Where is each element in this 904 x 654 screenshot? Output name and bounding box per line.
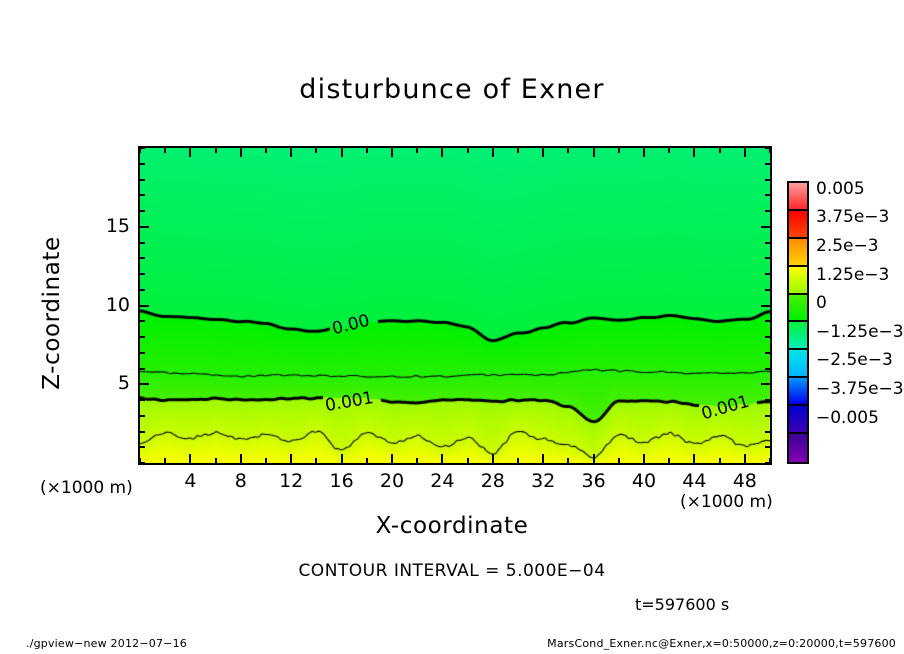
x-axis-title: X-coordinate	[0, 513, 904, 539]
axis-tick	[467, 148, 469, 153]
colorbar-band	[789, 378, 807, 406]
axis-tick	[290, 454, 292, 463]
axis-tick	[140, 163, 145, 165]
axis-tick	[140, 273, 145, 275]
axis-tick	[441, 148, 443, 157]
footer-command-note: ./gpview−new 2012−07−16	[26, 637, 187, 650]
axis-tick	[140, 179, 145, 181]
axis-tick	[492, 148, 494, 157]
axis-tick	[643, 148, 645, 157]
axis-tick	[668, 148, 670, 153]
colorbar-band	[789, 295, 807, 323]
axis-tick	[265, 458, 267, 463]
axis-tick	[618, 148, 620, 153]
axis-tick	[164, 458, 166, 463]
axis-tick	[140, 257, 145, 259]
colorbar-band	[789, 434, 807, 462]
axis-tick	[366, 148, 368, 153]
axis-tick	[765, 210, 770, 212]
axis-tick	[140, 147, 145, 149]
axis-tick	[265, 148, 267, 153]
axis-tick	[693, 454, 695, 463]
axis-tick	[517, 148, 519, 153]
x-tick-label: 24	[422, 470, 462, 492]
axis-tick	[765, 242, 770, 244]
axis-tick	[492, 454, 494, 463]
axis-tick	[140, 226, 149, 228]
x-tick-label: 48	[725, 470, 765, 492]
y-tick-label: 10	[92, 294, 130, 316]
axis-tick	[416, 458, 418, 463]
x-tick-label: 44	[674, 470, 714, 492]
axis-tick	[765, 431, 770, 433]
axis-tick	[765, 163, 770, 165]
x-tick-label: 4	[170, 470, 210, 492]
x-unit-right-label: (×1000 m)	[680, 492, 773, 512]
axis-tick	[744, 148, 746, 157]
axis-tick	[765, 147, 770, 149]
axis-tick	[140, 368, 145, 370]
axis-tick	[189, 454, 191, 463]
axis-tick	[240, 148, 242, 157]
x-tick-label: 28	[473, 470, 513, 492]
axis-tick	[567, 458, 569, 463]
axis-tick	[719, 458, 721, 463]
colorbar-band	[789, 211, 807, 239]
axis-tick	[315, 458, 317, 463]
colorbar-band	[789, 267, 807, 295]
axis-tick	[668, 458, 670, 463]
x-tick-label: 12	[271, 470, 311, 492]
colorbar-band	[789, 406, 807, 434]
axis-tick	[416, 148, 418, 153]
axis-tick	[765, 336, 770, 338]
colorbar-tick-label: −0.005	[816, 408, 879, 428]
axis-tick	[140, 336, 145, 338]
axis-tick	[391, 454, 393, 463]
page-title: disturbunce of Exner	[0, 74, 904, 105]
axis-tick	[140, 399, 145, 401]
colorbar-tick-label: 3.75e−3	[816, 207, 889, 227]
axis-tick	[542, 454, 544, 463]
colorbar-band	[789, 183, 807, 211]
axis-tick	[542, 148, 544, 157]
footer-source-note: MarsCond_Exner.nc@Exner,x=0:50000,z=0:20…	[547, 637, 896, 650]
colorbar-tick-label: 2.5e−3	[816, 236, 879, 256]
axis-tick	[215, 148, 217, 153]
time-stamp-note: t=597600 s	[635, 595, 729, 614]
axis-tick	[315, 148, 317, 153]
axis-tick	[765, 289, 770, 291]
axis-tick	[517, 458, 519, 463]
x-tick-label: 16	[322, 470, 362, 492]
x-unit-left-label: (×1000 m)	[40, 478, 133, 498]
axis-tick	[618, 458, 620, 463]
axis-tick	[761, 226, 770, 228]
x-tick-label: 20	[372, 470, 412, 492]
colorbar-band	[789, 350, 807, 378]
colorbar-tick-label: −1.25e−3	[816, 322, 904, 342]
axis-tick	[765, 399, 770, 401]
y-tick-label: 15	[92, 215, 130, 237]
axis-tick	[140, 431, 145, 433]
axis-tick	[761, 383, 770, 385]
axis-tick	[140, 210, 145, 212]
axis-tick	[765, 415, 770, 417]
axis-tick	[341, 148, 343, 157]
axis-tick	[567, 148, 569, 153]
axis-tick	[366, 458, 368, 463]
axis-tick	[761, 305, 770, 307]
axis-tick	[391, 148, 393, 157]
colorbar-band	[789, 322, 807, 350]
axis-tick	[719, 148, 721, 153]
axis-tick	[290, 148, 292, 157]
axis-tick	[140, 415, 145, 417]
axis-tick	[765, 273, 770, 275]
y-tick-label: 5	[92, 372, 130, 394]
axis-tick	[140, 383, 149, 385]
axis-tick	[765, 194, 770, 196]
axis-tick	[140, 320, 145, 322]
axis-tick	[140, 352, 145, 354]
plot-area[interactable]	[138, 146, 772, 465]
axis-tick	[215, 458, 217, 463]
axis-tick	[467, 458, 469, 463]
axis-tick	[765, 257, 770, 259]
x-tick-label: 40	[624, 470, 664, 492]
axis-tick	[593, 148, 595, 157]
colorbar-tick-label: 0	[816, 293, 827, 313]
axis-tick	[189, 148, 191, 157]
axis-tick	[593, 454, 595, 463]
axis-tick	[140, 242, 145, 244]
colorbar-tick-label: −3.75e−3	[816, 379, 904, 399]
axis-tick	[140, 462, 145, 464]
y-axis-title: Z-coordinate	[39, 213, 65, 413]
x-tick-label: 36	[574, 470, 614, 492]
axis-tick	[441, 454, 443, 463]
axis-tick	[765, 446, 770, 448]
axis-tick	[693, 148, 695, 157]
colorbar-tick-label: −2.5e−3	[816, 350, 893, 370]
axis-tick	[341, 454, 343, 463]
colorbar-tick-label: 0.005	[816, 179, 865, 199]
contour-field	[140, 148, 770, 463]
axis-tick	[643, 454, 645, 463]
axis-tick	[765, 462, 770, 464]
colorbar-band	[789, 239, 807, 267]
axis-tick	[765, 352, 770, 354]
axis-tick	[765, 320, 770, 322]
axis-tick	[765, 179, 770, 181]
axis-tick	[140, 194, 145, 196]
axis-tick	[744, 454, 746, 463]
axis-tick	[140, 289, 145, 291]
axis-tick	[164, 148, 166, 153]
x-tick-label: 8	[221, 470, 261, 492]
axis-tick	[240, 454, 242, 463]
contour-interval-note: CONTOUR INTERVAL = 5.000E−04	[0, 561, 904, 581]
colorbar[interactable]	[787, 181, 809, 464]
axis-tick	[140, 446, 145, 448]
axis-tick	[765, 368, 770, 370]
x-tick-label: 32	[523, 470, 563, 492]
axis-tick	[140, 305, 149, 307]
colorbar-tick-label: 1.25e−3	[816, 265, 889, 285]
